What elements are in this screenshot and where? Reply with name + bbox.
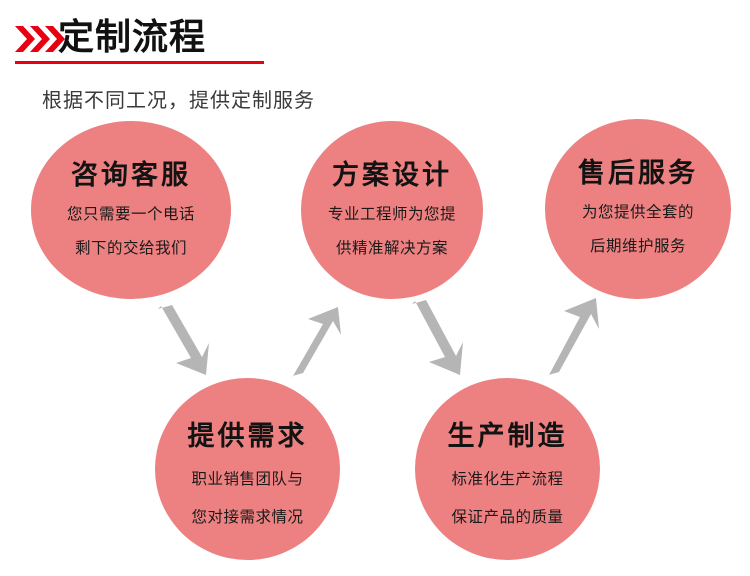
- flow-node-provide-requirements[interactable]: 提供需求 职业销售团队与 您对接需求情况: [155, 378, 340, 560]
- flow-node-desc-line1: 专业工程师为您提: [328, 202, 456, 226]
- flow-node-title: 提供需求: [188, 414, 308, 453]
- arrow-up-right-icon: [539, 298, 609, 383]
- arrow-down-right-icon: [404, 300, 466, 383]
- process-flow-diagram: 咨询客服 您只需要一个电话 剩下的交给我们 方案设计 专业工程师为您提 供精准解…: [0, 0, 750, 576]
- flow-node-desc-line1: 您只需要一个电话: [67, 202, 195, 226]
- arrow-down-right-icon: [152, 305, 212, 382]
- flow-node-consult-service[interactable]: 咨询客服 您只需要一个电话 剩下的交给我们: [31, 121, 231, 299]
- flow-node-desc-line2: 保证产品的质量: [451, 505, 563, 529]
- flow-node-after-sales-service[interactable]: 售后服务 为您提供全套的 后期维护服务: [545, 119, 731, 299]
- flow-node-title: 咨询客服: [71, 153, 191, 192]
- flow-node-production-manufacturing[interactable]: 生产制造 标准化生产流程 保证产品的质量: [415, 378, 600, 560]
- flow-node-desc-line2: 剩下的交给我们: [75, 236, 187, 260]
- flow-node-desc-line1: 标准化生产流程: [451, 467, 563, 491]
- flow-node-desc-line1: 为您提供全套的: [582, 200, 694, 224]
- flow-node-desc-line1: 职业销售团队与: [191, 467, 303, 491]
- flow-node-scheme-design[interactable]: 方案设计 专业工程师为您提 供精准解决方案: [301, 121, 483, 299]
- arrow-up-right-icon: [283, 307, 349, 384]
- flow-node-desc-line2: 您对接需求情况: [191, 505, 303, 529]
- flow-node-title: 售后服务: [578, 151, 698, 190]
- flow-node-title: 生产制造: [448, 414, 568, 453]
- flow-node-title: 方案设计: [332, 153, 452, 192]
- flow-node-desc-line2: 供精准解决方案: [336, 236, 448, 260]
- flow-node-desc-line2: 后期维护服务: [590, 234, 686, 258]
